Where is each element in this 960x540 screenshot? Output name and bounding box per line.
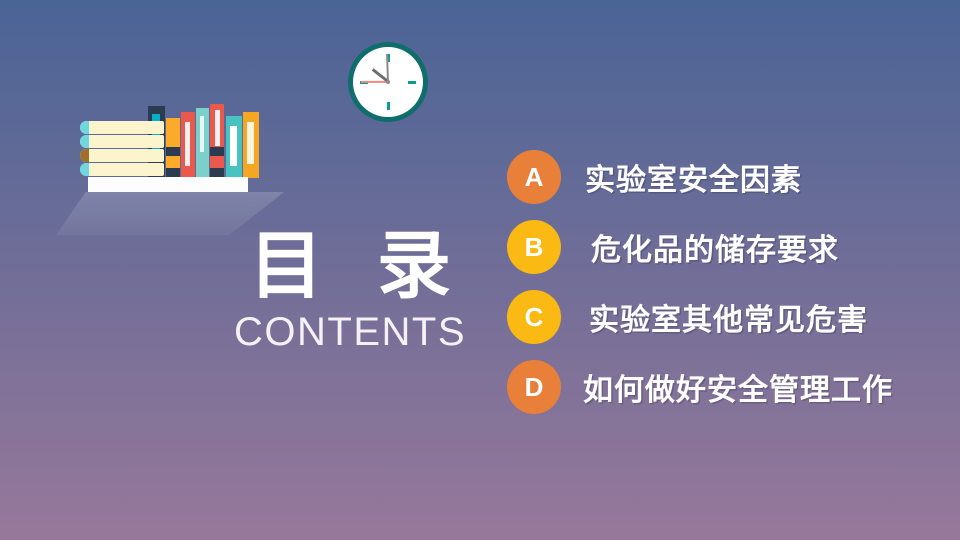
book-stripe — [247, 122, 254, 164]
contents-list: A 实验室安全因素 B 危化品的储存要求 C 实验室其他常见危害 D 如何做好安… — [507, 150, 937, 430]
vertical-book — [210, 104, 224, 178]
book-band — [210, 147, 224, 156]
vertical-book — [196, 108, 209, 178]
book-spine — [80, 121, 89, 134]
presentation-slide: 目 录 CONTENTS A 实验室安全因素 B 危化品的储存要求 C 实验室其… — [0, 0, 960, 540]
contents-item-c[interactable]: C 实验室其他常见危害 — [507, 290, 937, 344]
wall-clock-icon — [348, 42, 428, 122]
contents-item-a[interactable]: A 实验室安全因素 — [507, 150, 937, 204]
clock-tick-6 — [387, 102, 390, 110]
contents-label-d: 如何做好安全管理工作 — [583, 365, 893, 409]
page-title-english: CONTENTS — [180, 310, 520, 355]
contents-badge-b[interactable]: B — [507, 220, 561, 274]
book-band — [166, 147, 180, 156]
page-title-chinese: 目 录 — [180, 228, 520, 306]
clock-second-hand — [361, 81, 388, 83]
contents-badge-a[interactable]: A — [507, 150, 561, 204]
vertical-book — [243, 112, 259, 178]
clock-face — [353, 47, 423, 117]
stacked-book — [80, 121, 164, 134]
book-stripe — [215, 110, 220, 146]
stacked-book — [80, 135, 164, 148]
vertical-book — [226, 116, 242, 178]
contents-label-c: 实验室其他常见危害 — [589, 295, 868, 339]
clock-tick-3 — [408, 81, 416, 84]
contents-badge-d[interactable]: D — [507, 360, 561, 414]
stacked-book — [80, 149, 164, 162]
book-spine — [80, 149, 89, 162]
shelf-board — [88, 177, 248, 192]
contents-item-d[interactable]: D 如何做好安全管理工作 — [507, 360, 937, 414]
contents-label-a: 实验室安全因素 — [585, 155, 802, 199]
stacked-book — [80, 163, 164, 176]
contents-badge-c[interactable]: C — [507, 290, 561, 344]
book-spine — [80, 163, 89, 176]
stacked-books-group — [80, 121, 164, 178]
book-stripe — [200, 116, 204, 152]
book-stripe — [185, 122, 190, 166]
contents-label-b: 危化品的储存要求 — [591, 225, 839, 269]
book-spine — [80, 135, 89, 148]
vertical-book — [181, 112, 195, 178]
book-stripe — [230, 126, 237, 166]
contents-item-b[interactable]: B 危化品的储存要求 — [507, 220, 937, 274]
clock-center-pin — [386, 80, 390, 84]
title-block: 目 录 CONTENTS — [180, 228, 520, 355]
vertical-book — [166, 118, 180, 178]
